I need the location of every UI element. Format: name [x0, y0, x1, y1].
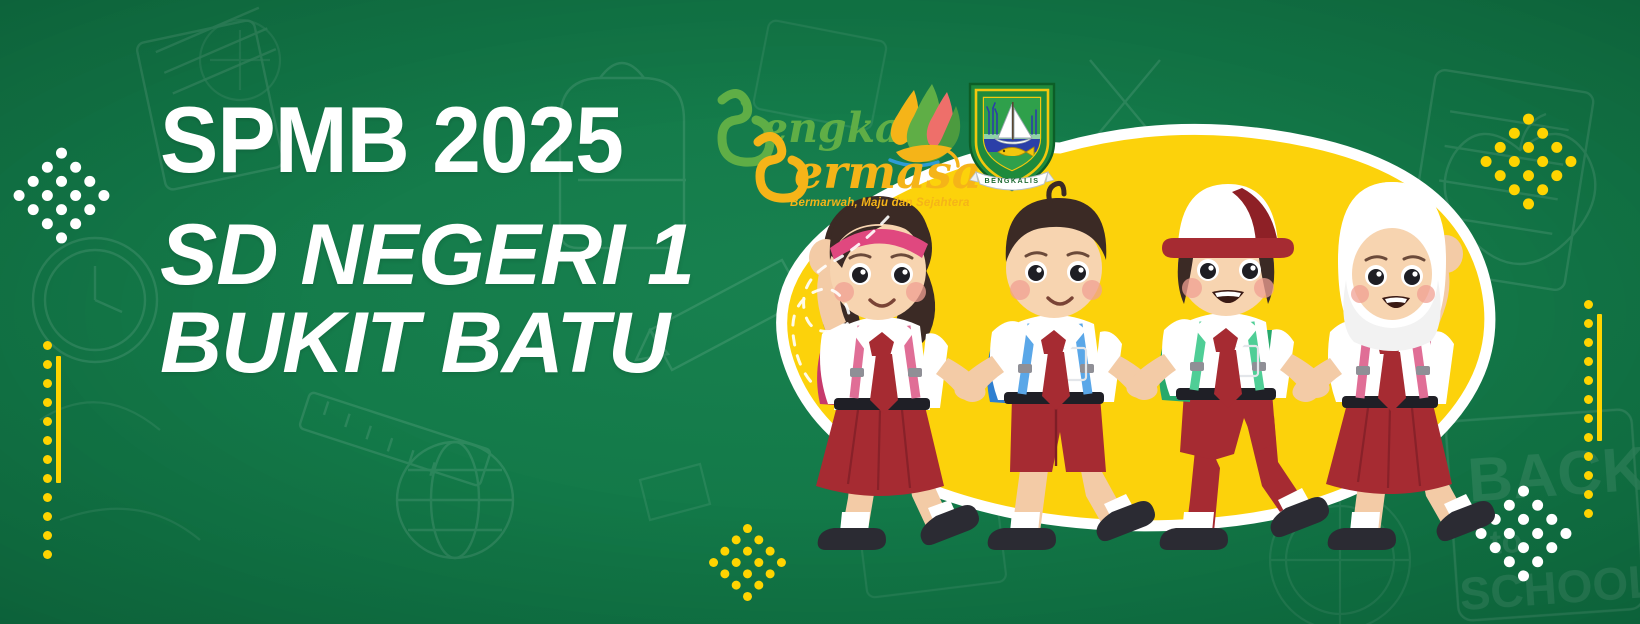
vertical-bar-left	[56, 356, 61, 483]
logo-word-bottom: ermasa	[794, 145, 982, 199]
vertical-bar-right	[1597, 314, 1602, 441]
headline-line-1: SPMB 2025	[160, 96, 737, 184]
headline-block: SPMB 2025 SD NEGERI 1 BUKIT BATU	[160, 96, 780, 389]
headline-line-3: BUKIT BATU	[160, 298, 780, 389]
dot-column-right	[1584, 300, 1593, 518]
bengkalis-bermasa-logo: engkalis ermasa Bermarwah, Maju dan Seja…	[700, 80, 970, 210]
spmb-banner: BACK to SCHOOL	[0, 0, 1640, 624]
dashed-curve-decoration	[770, 215, 900, 405]
dot-column-left	[43, 341, 52, 559]
coat-ribbon-text: BENGKALIS	[985, 176, 1040, 185]
bengkalis-coat-of-arms: BENGKALIS	[962, 78, 1062, 196]
logo-tagline: Bermarwah, Maju dan Sejahtera	[790, 197, 970, 209]
headline-line-2: SD NEGERI 1	[160, 210, 780, 301]
